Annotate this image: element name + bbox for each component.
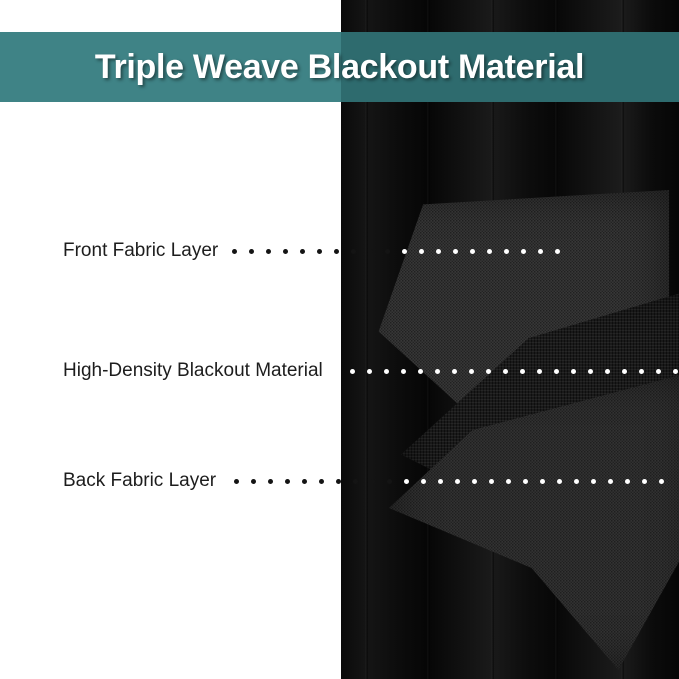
callout-label: Back Fabric Layer [63, 468, 216, 494]
leader-dot [333, 369, 338, 374]
leader-dot [419, 249, 424, 254]
leader-dot [370, 479, 375, 484]
leader-dot [605, 369, 610, 374]
leader-dot [503, 369, 508, 374]
leader-dot [625, 479, 630, 484]
leader-dot [351, 249, 356, 254]
leader-dot [268, 479, 273, 484]
leader-dot [538, 249, 543, 254]
leader-dot [387, 479, 392, 484]
leader-dot [453, 249, 458, 254]
leader-dot [469, 369, 474, 374]
leader-dot [521, 249, 526, 254]
leader-dot [659, 479, 664, 484]
leader-dot [639, 369, 644, 374]
leader-dot [350, 369, 355, 374]
leader-dot [574, 479, 579, 484]
leader-dot [540, 479, 545, 484]
leader-dot [367, 369, 372, 374]
leader-dot [591, 479, 596, 484]
leader-dot [283, 249, 288, 254]
leader-dot [472, 479, 477, 484]
leader-dot [436, 249, 441, 254]
leader-dot [608, 479, 613, 484]
leader-dot [523, 479, 528, 484]
leader-dot [249, 249, 254, 254]
leader-line [232, 238, 572, 264]
leader-dot [504, 249, 509, 254]
leader-dot [571, 369, 576, 374]
leader-dot [470, 249, 475, 254]
leader-dot [554, 369, 559, 374]
leader-dot [334, 249, 339, 254]
leader-line [333, 358, 679, 384]
leader-dot [455, 479, 460, 484]
leader-dot [557, 479, 562, 484]
leader-dot [234, 479, 239, 484]
leader-dot [673, 369, 678, 374]
leader-dot [353, 479, 358, 484]
leader-dot [642, 479, 647, 484]
leader-dot [656, 369, 661, 374]
back-fabric-sheet [389, 370, 679, 670]
leader-dot [588, 369, 593, 374]
leader-dot [300, 249, 305, 254]
leader-dot [319, 479, 324, 484]
leader-dot [537, 369, 542, 374]
leader-dot [336, 479, 341, 484]
leader-dot [402, 249, 407, 254]
leader-dot [452, 369, 457, 374]
page-title: Triple Weave Blackout Material [0, 32, 679, 102]
leader-dot [384, 369, 389, 374]
leader-dot [438, 479, 443, 484]
leader-dot [404, 479, 409, 484]
callout-label: Front Fabric Layer [63, 238, 218, 264]
leader-dot [435, 369, 440, 374]
leader-dot [622, 369, 627, 374]
leader-dot [368, 249, 373, 254]
leader-dot [266, 249, 271, 254]
leader-dot [506, 479, 511, 484]
callout-row-high-density-blackout-material: High-Density Blackout Material [63, 358, 679, 384]
leader-dot [520, 369, 525, 374]
callout-row-front-fabric-layer: Front Fabric Layer [63, 238, 572, 264]
leader-dot [302, 479, 307, 484]
leader-dot [401, 369, 406, 374]
callout-label: High-Density Blackout Material [63, 358, 323, 384]
leader-dot [418, 369, 423, 374]
leader-dot [486, 369, 491, 374]
leader-line [234, 468, 676, 494]
leader-dot [317, 249, 322, 254]
product-infographic: Triple Weave Blackout Material Front Fab… [0, 0, 679, 679]
leader-dot [285, 479, 290, 484]
callout-row-back-fabric-layer: Back Fabric Layer [63, 468, 676, 494]
leader-dot [555, 249, 560, 254]
leader-dot [232, 249, 237, 254]
leader-dot [385, 249, 390, 254]
title-banner: Triple Weave Blackout Material [0, 32, 679, 102]
leader-dot [421, 479, 426, 484]
leader-dot [489, 479, 494, 484]
leader-dot [487, 249, 492, 254]
leader-dot [251, 479, 256, 484]
